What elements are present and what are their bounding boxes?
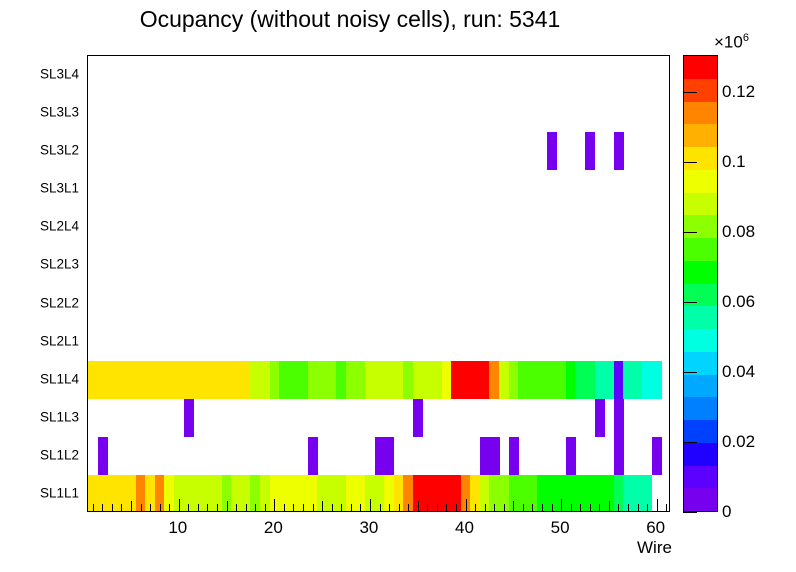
x-axis-minor-tick [360, 504, 361, 511]
x-axis-mid-tick [370, 501, 371, 511]
color-scale-tick-label: 0.1 [722, 152, 746, 172]
x-axis-minor-tick [618, 504, 619, 511]
color-scale-band [684, 101, 717, 124]
color-scale-exponent: ×106 [714, 32, 749, 53]
color-scale-band [684, 78, 717, 101]
x-axis-minor-tick [313, 504, 314, 511]
y-axis-label-sl3l1: SL3L1 [40, 181, 79, 196]
heatmap-cell [413, 399, 423, 437]
x-axis-mid-tick [513, 501, 514, 511]
y-axis-label-sl3l3: SL3L3 [40, 105, 79, 120]
x-axis-minor-tick [284, 504, 285, 511]
heatmap-cell [509, 437, 519, 475]
x-axis-minor-tick [236, 504, 237, 511]
x-axis-minor-tick [552, 504, 553, 511]
x-axis-minor-tick [494, 504, 495, 511]
x-axis-minor-tick [293, 504, 294, 511]
y-axis-label-sl2l2: SL2L2 [40, 295, 79, 310]
root-canvas: Ocupancy (without noisy cells), run: 534… [0, 0, 796, 572]
y-axis-label-sl2l3: SL2L3 [40, 257, 79, 272]
color-scale-band [684, 146, 717, 169]
x-axis-minor-tick [255, 504, 256, 511]
color-scale-tick-label: 0.02 [722, 432, 755, 452]
x-axis-minor-tick [647, 504, 648, 511]
color-scale-tick-label: 0.08 [722, 222, 755, 242]
x-axis-minor-tick [437, 504, 438, 511]
x-axis-mid-tick [466, 501, 467, 511]
color-scale-exponent-power: 6 [743, 32, 749, 44]
x-axis-minor-tick [475, 504, 476, 511]
color-scale-tick-label: 0 [722, 502, 731, 522]
heatmap-cell [595, 399, 605, 437]
x-axis-minor-tick [523, 504, 524, 511]
color-scale-tick [683, 372, 697, 373]
x-axis-minor-tick [542, 504, 543, 511]
x-axis-mid-tick [609, 501, 610, 511]
color-scale-tick [683, 232, 697, 233]
color-scale-bar [683, 55, 718, 512]
x-axis-minor-tick [121, 504, 122, 511]
y-axis-label-sl2l4: SL2L4 [40, 219, 79, 234]
y-axis-label-sl1l1: SL1L1 [40, 485, 79, 500]
x-axis-minor-tick [150, 504, 151, 511]
heatmap-cell [652, 361, 662, 399]
x-axis-minor-tick [446, 504, 447, 511]
heatmap-cells [88, 56, 669, 511]
x-axis-title: Wire [637, 538, 672, 558]
plot-frame[interactable] [87, 55, 670, 512]
x-axis-minor-tick [303, 504, 304, 511]
heatmap-cell [184, 399, 194, 437]
y-axis-label-sl3l4: SL3L4 [40, 67, 79, 82]
x-axis-minor-tick [102, 504, 103, 511]
x-axis-minor-tick [628, 504, 629, 511]
color-scale-band [684, 419, 717, 442]
x-axis-minor-tick [351, 504, 352, 511]
x-axis-tick-label: 60 [646, 518, 665, 538]
x-axis-tick-label: 40 [455, 518, 474, 538]
x-axis-minor-tick [380, 504, 381, 511]
x-axis-minor-tick [599, 504, 600, 511]
x-axis-minor-tick [580, 504, 581, 511]
heatmap-cell [614, 437, 624, 475]
heatmap-cell [98, 437, 108, 475]
color-scale-band [684, 237, 717, 260]
color-scale-band [684, 328, 717, 351]
x-axis-minor-tick [485, 504, 486, 511]
color-scale-exponent-base: ×10 [714, 33, 743, 52]
y-axis-label-sl2l1: SL2L1 [40, 333, 79, 348]
color-scale-tick [683, 92, 697, 93]
color-scale-tick-label: 0.04 [722, 362, 755, 382]
x-axis-minor-tick [112, 504, 113, 511]
y-axis-label-sl3l2: SL3L2 [40, 143, 79, 158]
color-scale-band [684, 260, 717, 283]
x-axis-minor-tick [188, 504, 189, 511]
color-scale-band [684, 465, 717, 488]
x-axis-minor-tick [246, 504, 247, 511]
heatmap-cell [384, 437, 394, 475]
heatmap-cell [614, 132, 624, 170]
color-scale-band [684, 55, 717, 78]
x-axis-minor-tick [93, 504, 94, 511]
color-scale-band [684, 374, 717, 397]
x-axis-minor-tick [408, 504, 409, 511]
x-axis-minor-tick [504, 504, 505, 511]
x-axis-mid-tick [418, 501, 419, 511]
x-axis-minor-tick [265, 504, 266, 511]
x-axis-mid-tick [227, 501, 228, 511]
heatmap-cell [652, 437, 662, 475]
x-axis-mid-tick [131, 501, 132, 511]
x-axis-minor-tick [141, 504, 142, 511]
color-scale-band [684, 351, 717, 374]
color-scale-tick-label: 0.06 [722, 292, 755, 312]
x-axis-minor-tick [160, 504, 161, 511]
color-scale-band [684, 488, 717, 511]
color-scale-band [684, 169, 717, 192]
page-title: Ocupancy (without noisy cells), run: 534… [0, 6, 700, 33]
x-axis-minor-tick [217, 504, 218, 511]
heatmap-cell [489, 437, 499, 475]
x-axis-minor-tick [638, 504, 639, 511]
heatmap-cell [547, 132, 557, 170]
heatmap-cell [585, 132, 595, 170]
y-axis-label-sl1l2: SL1L2 [40, 447, 79, 462]
x-axis-mid-tick [179, 501, 180, 511]
x-axis-mid-tick [657, 501, 658, 511]
heatmap-cell [566, 437, 576, 475]
heatmap-cell [308, 437, 318, 475]
x-axis-mid-tick [561, 501, 562, 511]
x-axis-tick-label: 30 [359, 518, 378, 538]
x-axis-minor-tick [169, 504, 170, 511]
color-scale-band [684, 306, 717, 329]
color-scale-tick [683, 442, 697, 443]
x-axis-tick-label: 10 [168, 518, 187, 538]
heatmap-cell [614, 399, 624, 437]
x-axis-tick-label: 20 [264, 518, 283, 538]
color-scale-tick [683, 162, 697, 163]
color-scale-band [684, 397, 717, 420]
color-scale-band [684, 124, 717, 147]
color-scale-tick-label: 0.12 [722, 82, 755, 102]
x-axis-mid-tick [322, 501, 323, 511]
color-scale-band [684, 215, 717, 238]
x-axis-minor-tick [198, 504, 199, 511]
x-axis-tick-label: 50 [551, 518, 570, 538]
color-scale-tick [683, 512, 697, 513]
x-axis-minor-tick [332, 504, 333, 511]
x-axis-mid-tick [274, 501, 275, 511]
x-axis-minor-tick [532, 504, 533, 511]
x-axis-minor-tick [427, 504, 428, 511]
x-axis-minor-tick [590, 504, 591, 511]
x-axis-minor-tick [399, 504, 400, 511]
x-axis-minor-tick [456, 504, 457, 511]
x-axis-minor-tick [207, 504, 208, 511]
color-scale-band [684, 192, 717, 215]
x-axis-minor-tick [571, 504, 572, 511]
x-axis-minor-tick [341, 504, 342, 511]
x-axis-minor-tick [389, 504, 390, 511]
color-scale-tick [683, 302, 697, 303]
color-scale-band [684, 442, 717, 465]
y-axis-label-sl1l3: SL1L3 [40, 409, 79, 424]
x-axis-minor-tick [666, 504, 667, 511]
y-axis-label-sl1l4: SL1L4 [40, 371, 79, 386]
